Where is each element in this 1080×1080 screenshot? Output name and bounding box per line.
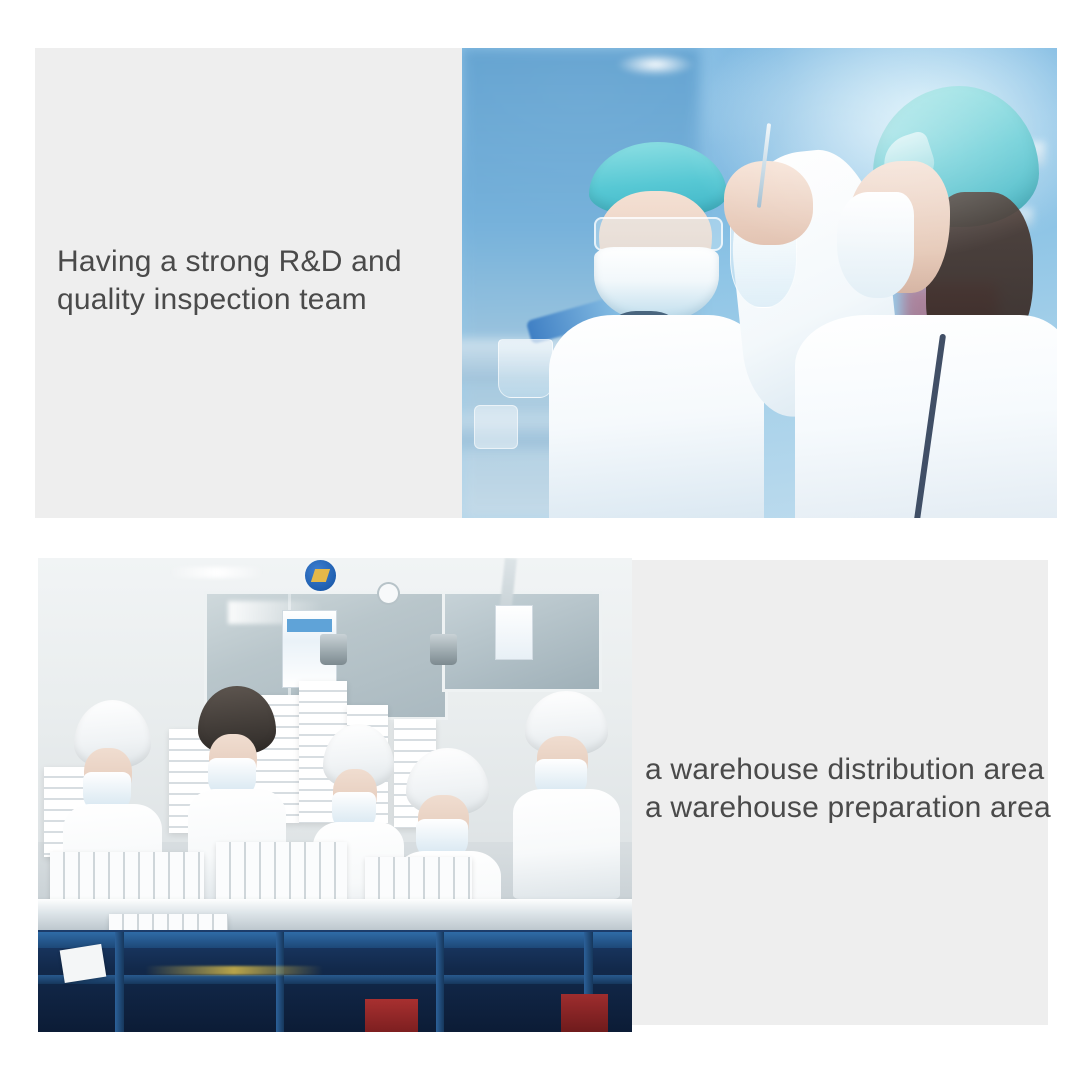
table-rail-upper	[38, 932, 632, 947]
bottom-caption-line-1: a warehouse distribution area	[645, 751, 1051, 789]
warehouse-worker	[525, 691, 608, 881]
face-mask-icon	[837, 192, 914, 298]
steel-container	[430, 634, 457, 665]
notice-board-small	[495, 605, 533, 659]
warehouse-packing-photo	[38, 558, 632, 1032]
table-leg	[115, 932, 123, 1032]
red-crate	[365, 999, 418, 1032]
floor-stripe	[145, 966, 323, 975]
table-leg	[276, 932, 284, 1032]
lab-coat	[795, 315, 1057, 518]
table-leg	[436, 932, 444, 1032]
white-coat	[513, 789, 619, 899]
top-caption-line-1: Having a strong R&D and	[57, 243, 402, 281]
ceiling-light	[169, 567, 264, 577]
composite-image: Having a strong R&D and quality inspecti…	[0, 0, 1080, 1080]
top-caption-text: Having a strong R&D and quality inspecti…	[57, 243, 402, 320]
safety-glasses-icon	[594, 217, 723, 251]
wall-clock-icon	[377, 582, 400, 605]
paper-sheet	[59, 944, 105, 983]
lab-technician-profile	[771, 86, 1057, 518]
bottom-caption-line-2: a warehouse preparation area	[645, 789, 1051, 827]
top-caption-line-2: quality inspection team	[57, 281, 402, 319]
steel-container	[320, 634, 347, 665]
red-crate	[561, 994, 609, 1032]
bottom-caption-text: a warehouse distribution area a warehous…	[645, 751, 1051, 828]
lab-coat	[549, 315, 764, 518]
lab-quality-inspection-photo	[462, 48, 1057, 518]
lab-ceiling-light	[617, 53, 694, 77]
table-rail-lower	[38, 975, 632, 984]
lab-small-glassware	[474, 405, 518, 449]
